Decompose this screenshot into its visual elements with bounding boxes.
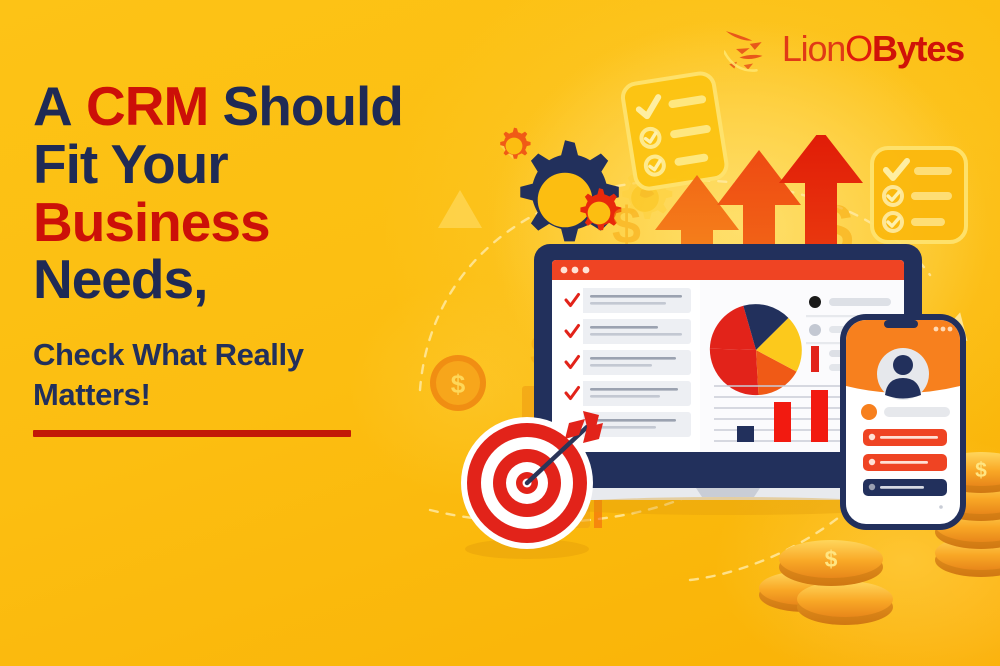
page-title: A CRM Should Fit Your Business Needs, xyxy=(33,78,503,309)
page-subtitle: Check What Really Matters! xyxy=(33,335,503,414)
subhead-line-2: Matters! xyxy=(33,375,503,415)
logo-part-bytes: Bytes xyxy=(872,28,964,69)
headline-line-3: Business xyxy=(33,194,503,252)
svg-text:$: $ xyxy=(975,459,987,482)
headline-line-4: Needs, xyxy=(33,251,503,309)
headline-seg-should: Should xyxy=(208,75,403,137)
headline-line-1: A CRM Should xyxy=(33,78,503,136)
logo-part-lion: Lion xyxy=(782,28,845,69)
logo-part-o: O xyxy=(845,28,872,69)
accent-underline xyxy=(33,430,351,437)
lion-head-icon xyxy=(724,26,772,72)
subhead-line-1: Check What Really xyxy=(33,335,503,375)
copy-block: A CRM Should Fit Your Business Needs, Ch… xyxy=(33,78,503,437)
headline-seg-a: A xyxy=(33,75,86,137)
floating-checklist-card-right xyxy=(864,140,974,250)
banner-root: $ $ $ xyxy=(0,0,1000,666)
phone-mockup xyxy=(836,312,970,532)
headline-line-2: Fit Your xyxy=(33,136,503,194)
svg-text:$: $ xyxy=(825,546,838,572)
phone-list-rows xyxy=(863,429,947,496)
logo-wordmark: LionOBytes xyxy=(782,31,964,67)
brand-logo[interactable]: LionOBytes xyxy=(724,26,964,72)
headline-seg-crm: CRM xyxy=(86,75,208,137)
